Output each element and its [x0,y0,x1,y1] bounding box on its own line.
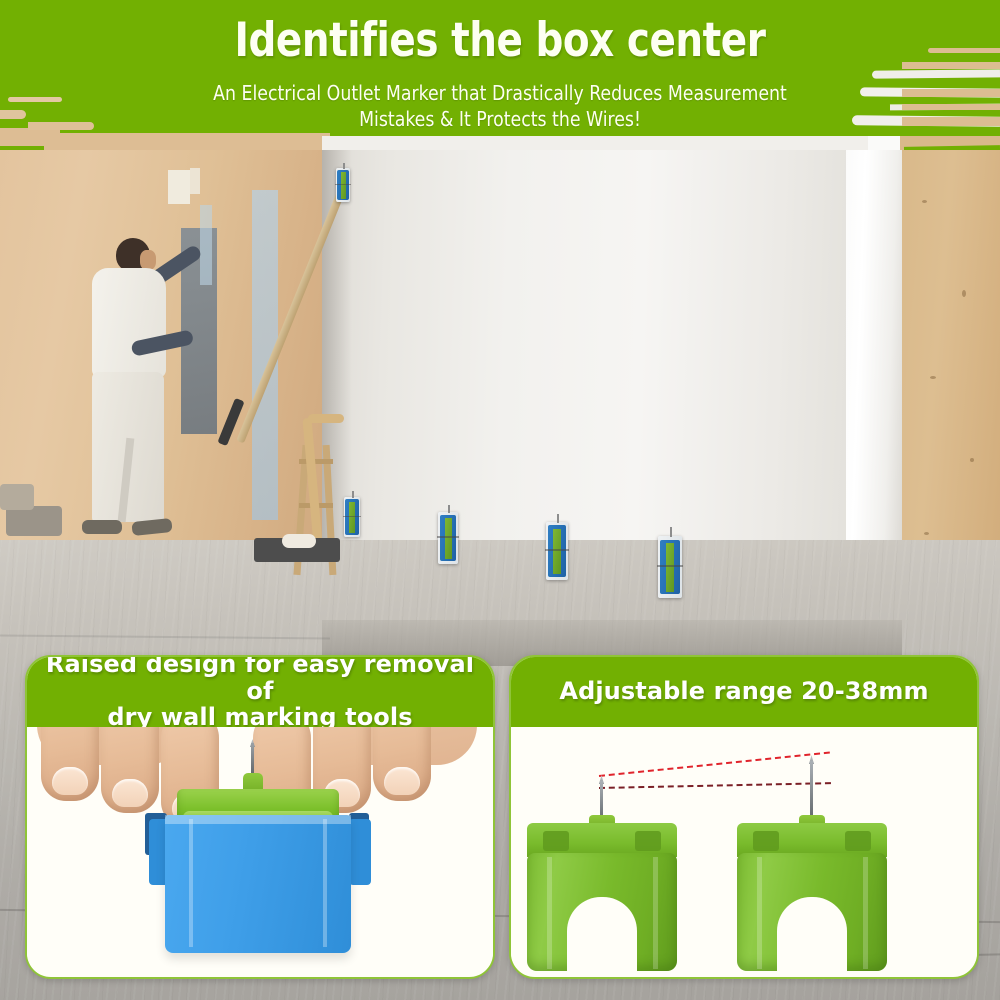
window-opening-secondary [190,168,200,194]
banner-edge-notch [28,122,94,130]
worker-face [140,250,156,270]
panel-header-raised-design: Raised design for easy removal of dry wa… [25,655,495,727]
floor-debris [0,484,34,510]
product-infographic: Identifies the box center An Electrical … [0,0,1000,1000]
finger [373,727,431,801]
banner-edge-notch [8,97,62,102]
brush-wisp [902,117,1000,126]
panel-art-adjustable-range [511,727,977,975]
brush-streak [0,146,44,150]
subtitle-line-2: Mistakes & It Protects the Wires! [359,107,641,131]
panel-heading-line-1: Raised design for easy removal of [46,655,474,705]
paint-roller [282,534,316,548]
leaning-pole-hook [308,414,344,423]
outlet-marker [438,512,458,564]
marker-tool-right [737,823,887,971]
panel-heading-text: Raised design for easy removal of dry wa… [25,655,495,731]
header-banner: Identifies the box center An Electrical … [0,0,1000,150]
outlet-marker [546,522,568,580]
worker-torso [92,268,166,378]
feature-panel-raised-design: Raised design for easy removal of dry wa… [25,655,495,979]
subtitle-line-1: An Electrical Outlet Marker that Drastic… [213,81,787,105]
page-title: Identifies the box center [40,16,960,66]
panel-heading-line-1: Adjustable range 20-38mm [559,677,928,705]
marker-tool-left [527,823,677,971]
outlet-marker [658,536,682,598]
box-mounting-ear [349,819,371,885]
worker-shoe [82,520,122,534]
feature-panel-adjustable-range: Adjustable range 20-38mm [509,655,979,979]
plywood-panel [900,140,1000,570]
banner-edge-notch [0,110,26,119]
worker-shoe [131,518,172,536]
outlet-marker [336,168,350,202]
blue-electrical-box [165,815,351,953]
banner-edge-notch [0,133,330,150]
page-subtitle: An Electrical Outlet Marker that Drastic… [124,80,876,132]
panel-art-raised-design [27,727,493,975]
panel-header-adjustable-range: Adjustable range 20-38mm [509,655,979,727]
finger [41,727,99,801]
range-line-lower [599,782,831,789]
floor-debris [6,506,62,536]
brush-wisp [872,69,1000,78]
panel-heading-text: Adjustable range 20-38mm [545,678,942,705]
marker-pin [251,743,254,777]
range-line-upper [599,752,830,777]
window-opening [168,170,190,204]
worker-figure [86,238,206,558]
finger [101,727,159,813]
banner-edge-notch [868,136,902,150]
brush-wisp [902,89,1000,97]
banner-edge-notch [322,136,868,150]
brush-streak [904,145,1000,150]
brush-wisp [902,104,1000,110]
outlet-marker [344,497,360,537]
